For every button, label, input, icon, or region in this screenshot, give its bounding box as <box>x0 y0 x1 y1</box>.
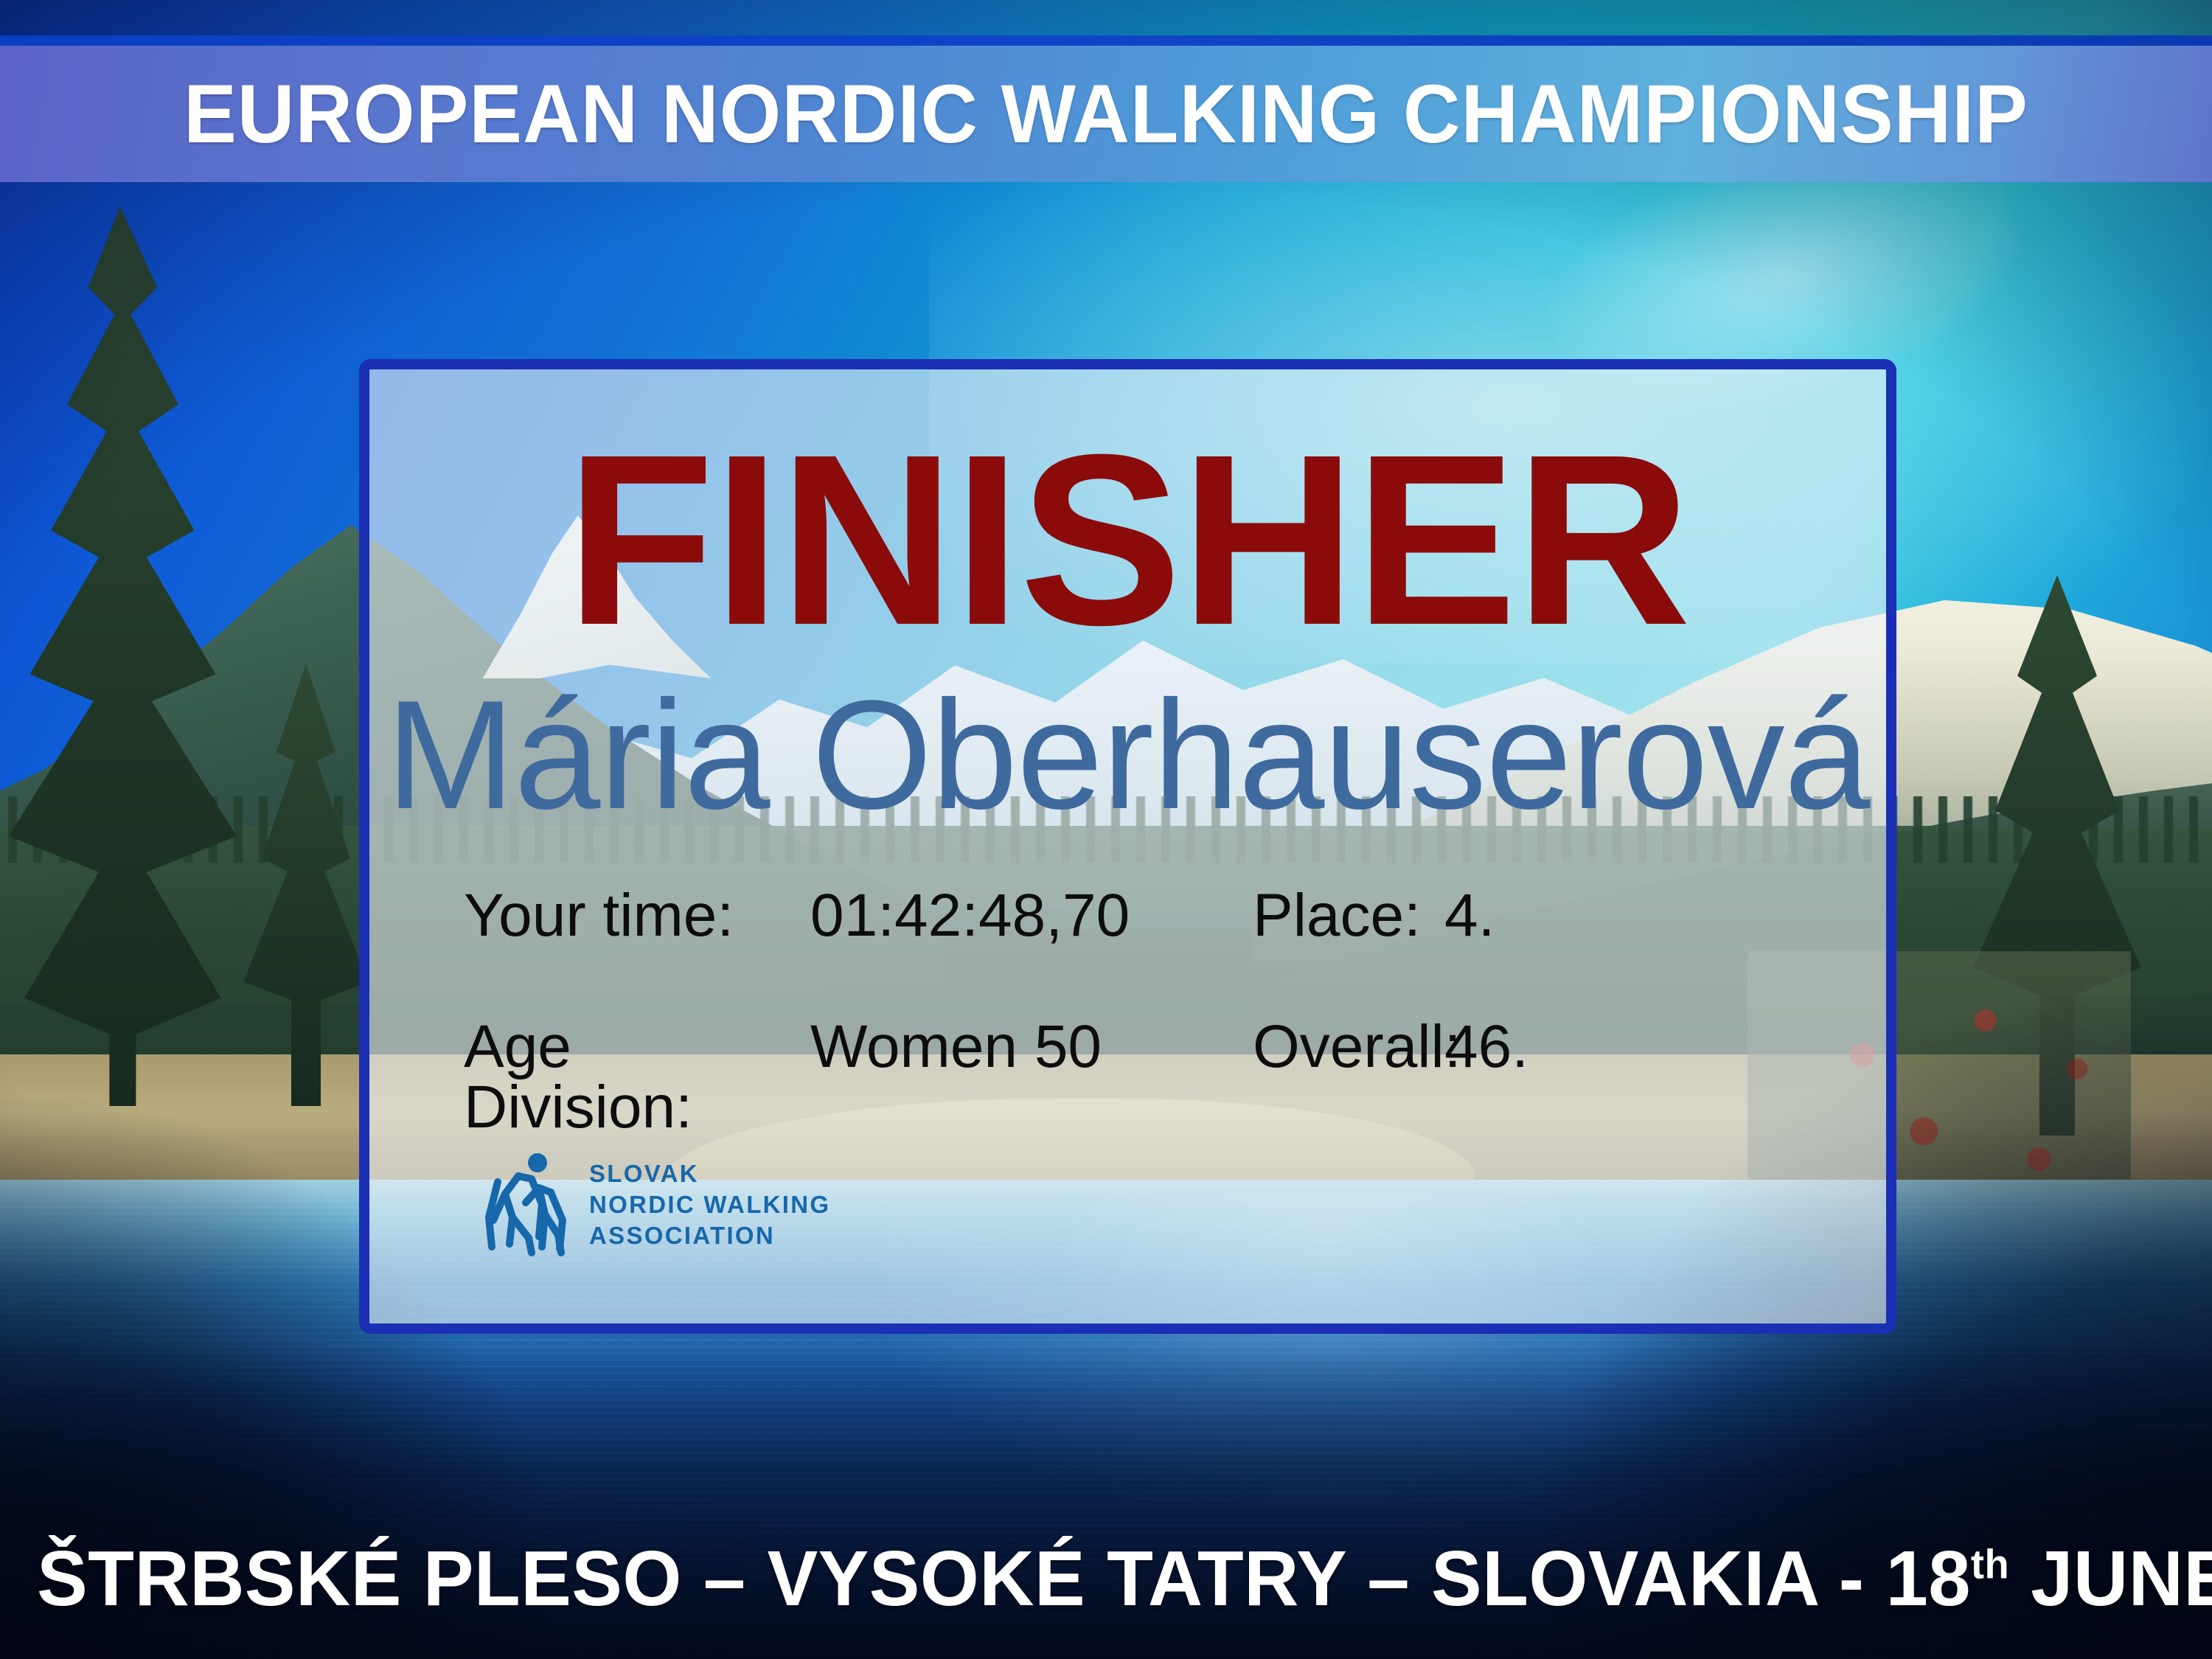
overall-value: 46. <box>1444 1017 1528 1077</box>
nordic-walker-icon <box>480 1150 573 1259</box>
detail-row-time: Your time: 01:42:48,70 Place: 4. <box>464 886 1732 946</box>
event-title: EUROPEAN NORDIC WALKING CHAMPIONSHIP <box>184 66 2028 161</box>
place-label: Place: <box>1253 886 1444 946</box>
overall-label: Overall: <box>1253 1017 1444 1077</box>
venue-text: ŠTRBSKÉ PLESO – VYSOKÉ TATRY – SLOVAKIA … <box>37 1535 1971 1622</box>
time-label: Your time: <box>464 886 810 946</box>
association-name: SLOVAK NORDIC WALKING ASSOCIATION <box>589 1161 830 1248</box>
result-panel-inner: FINISHER Mária Oberhauserová Your time: … <box>369 369 1886 1324</box>
ordinal-suffix: th <box>1971 1541 2009 1587</box>
logo-line-1: SLOVAK <box>589 1161 830 1186</box>
age-division-value: Women 50 <box>810 1017 1253 1077</box>
athlete-name: Mária Oberhauserová <box>386 678 1870 832</box>
detail-row-age-division: Age Division: Women 50 Overall: 46. <box>464 1017 1732 1138</box>
logo-line-3: ASSOCIATION <box>589 1223 830 1248</box>
logo-line-2: NORDIC WALKING <box>589 1192 830 1217</box>
footer: ŠTRBSKÉ PLESO – VYSOKÉ TATRY – SLOVAKIA … <box>0 1534 2212 1624</box>
finisher-certificate: EUROPEAN NORDIC WALKING CHAMPIONSHIP FIN… <box>0 0 2212 1659</box>
place-value: 4. <box>1444 886 1495 946</box>
date-text: JUNE 2016 <box>2009 1535 2212 1622</box>
result-panel: FINISHER Mária Oberhauserová Your time: … <box>359 359 1896 1334</box>
status-title: FINISHER <box>369 418 1886 661</box>
age-division-label: Age Division: <box>464 1017 810 1138</box>
time-value: 01:42:48,70 <box>810 886 1253 946</box>
association-logo: SLOVAK NORDIC WALKING ASSOCIATION <box>480 1150 830 1259</box>
venue-date-line: ŠTRBSKÉ PLESO – VYSOKÉ TATRY – SLOVAKIA … <box>37 1534 2212 1624</box>
header-banner: EUROPEAN NORDIC WALKING CHAMPIONSHIP <box>0 46 2212 182</box>
